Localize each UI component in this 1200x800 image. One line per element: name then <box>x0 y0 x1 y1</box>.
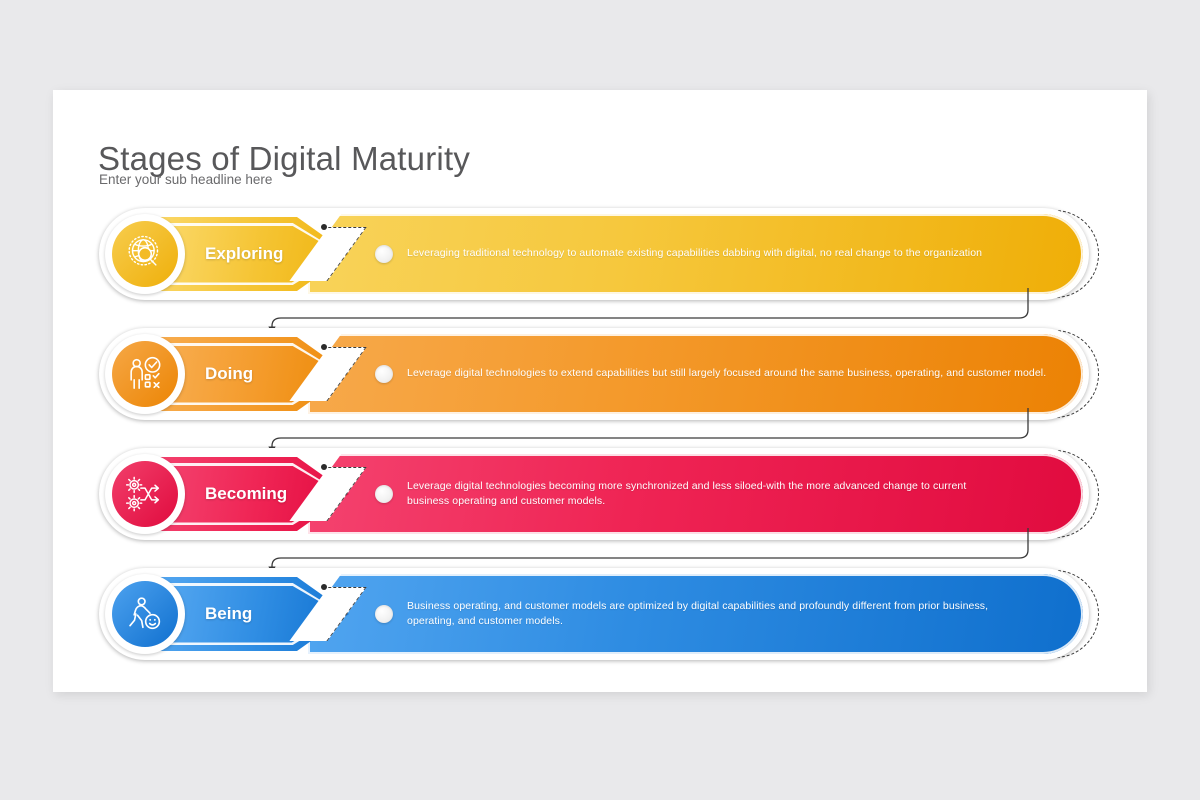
page-subtitle: Enter your sub headline here <box>99 172 272 187</box>
stages-list: Exploring <box>53 208 1147 688</box>
stage-row-becoming[interactable]: Becoming <box>53 448 1147 540</box>
dashed-vertex-dot <box>321 344 327 350</box>
stage-label: Doing <box>163 328 333 420</box>
stage-description-text: Leverage digital technologies to extend … <box>407 366 1046 381</box>
stage-description-text: Leveraging traditional technology to aut… <box>407 246 982 261</box>
stage-label: Being <box>163 568 333 660</box>
stage-icon-badge <box>105 574 185 654</box>
stage-icon-badge <box>105 454 185 534</box>
dashed-vertex-dot <box>321 224 327 230</box>
stage-row-doing[interactable]: Doing <box>53 328 1147 420</box>
stage-row-being[interactable]: Being <box>53 568 1147 660</box>
person-checklist-icon <box>125 354 165 394</box>
bullet-dot-icon <box>375 365 393 383</box>
stage-label: Becoming <box>163 448 333 540</box>
stage-icon-badge <box>105 334 185 414</box>
stage-description: Leverage digital technologies becoming m… <box>375 448 975 540</box>
stage-row-exploring[interactable]: Exploring <box>53 208 1147 300</box>
globe-magnifier-icon <box>125 234 165 274</box>
gears-arrows-icon <box>125 474 165 514</box>
dashed-vertex-dot <box>321 464 327 470</box>
stage-description-text: Business operating, and customer models … <box>407 599 1015 629</box>
stage-description: Leveraging traditional technology to aut… <box>375 208 1055 300</box>
stage-description: Business operating, and customer models … <box>375 568 1015 660</box>
stage-description-text: Leverage digital technologies becoming m… <box>407 479 975 509</box>
slide-canvas: Stages of Digital Maturity Enter your su… <box>0 0 1200 800</box>
stage-label: Exploring <box>163 208 333 300</box>
slide-surface: Stages of Digital Maturity Enter your su… <box>53 90 1147 692</box>
bullet-dot-icon <box>375 485 393 503</box>
bullet-dot-icon <box>375 245 393 263</box>
dashed-vertex-dot <box>321 584 327 590</box>
celebrating-person-icon <box>125 594 165 634</box>
stage-icon-badge <box>105 214 185 294</box>
bullet-dot-icon <box>375 605 393 623</box>
stage-description: Leverage digital technologies to extend … <box>375 328 1055 420</box>
